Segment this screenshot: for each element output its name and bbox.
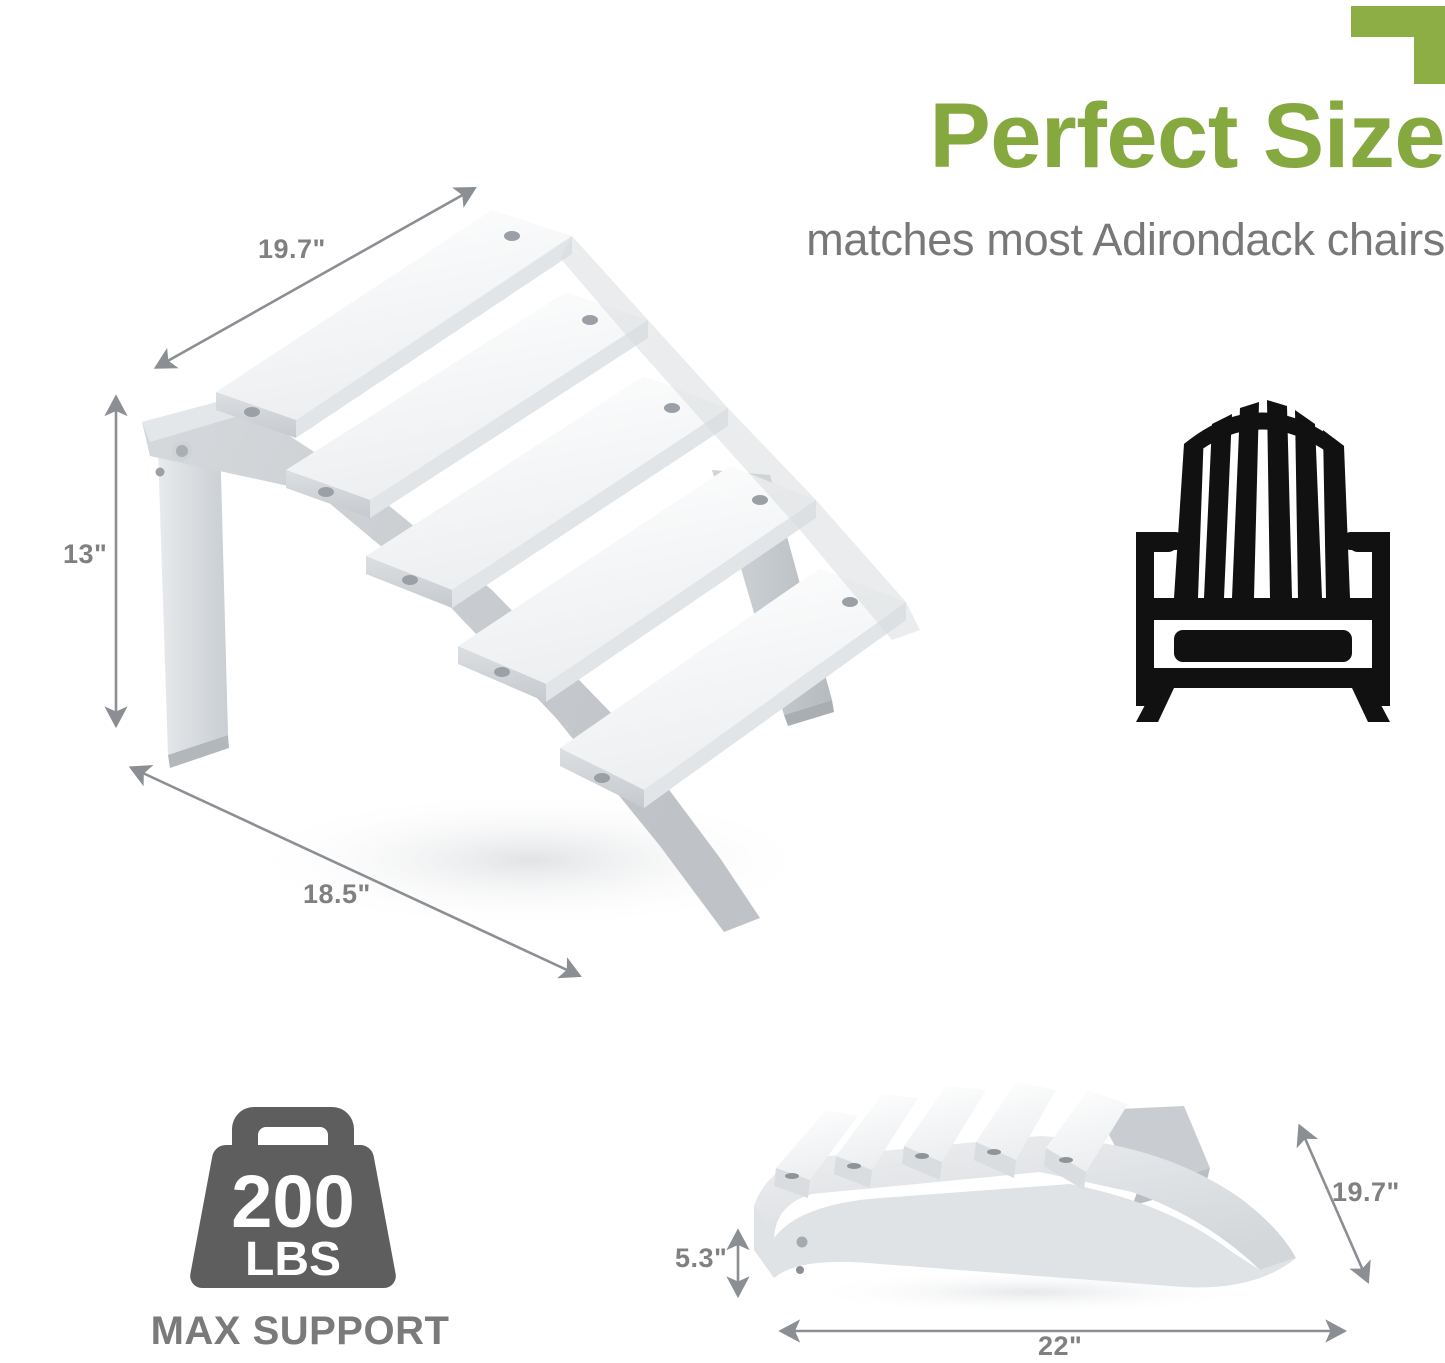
corner-bracket-icon xyxy=(1351,6,1445,84)
adirondack-ottoman-folded-icon xyxy=(740,1080,1320,1310)
dimension-label-width-top: 19.7" xyxy=(258,234,326,264)
weight-unit: LBS xyxy=(245,1233,341,1286)
weight-value: 200 xyxy=(231,1160,354,1243)
ottoman-front-leg xyxy=(158,438,229,768)
dimension-label-folded-height: 5.3" xyxy=(675,1243,727,1273)
max-support-caption: MAX SUPPORT xyxy=(100,1308,500,1354)
dimension-label-height-side: 13" xyxy=(63,539,107,569)
adirondack-ottoman-3d-icon xyxy=(120,170,940,970)
infographic-canvas: Perfect Size matches most Adirondack cha… xyxy=(0,0,1445,1363)
dimension-label-folded-width: 22" xyxy=(1038,1331,1082,1361)
dimension-label-depth-base: 18.5" xyxy=(303,879,371,909)
corner-bracket-vertical-bar xyxy=(1414,6,1445,84)
adirondack-chair-silhouette-icon xyxy=(1112,386,1412,731)
weight-block-icon: 200 LBS xyxy=(148,1105,438,1305)
dimension-label-folded-depth: 19.7" xyxy=(1332,1177,1400,1207)
